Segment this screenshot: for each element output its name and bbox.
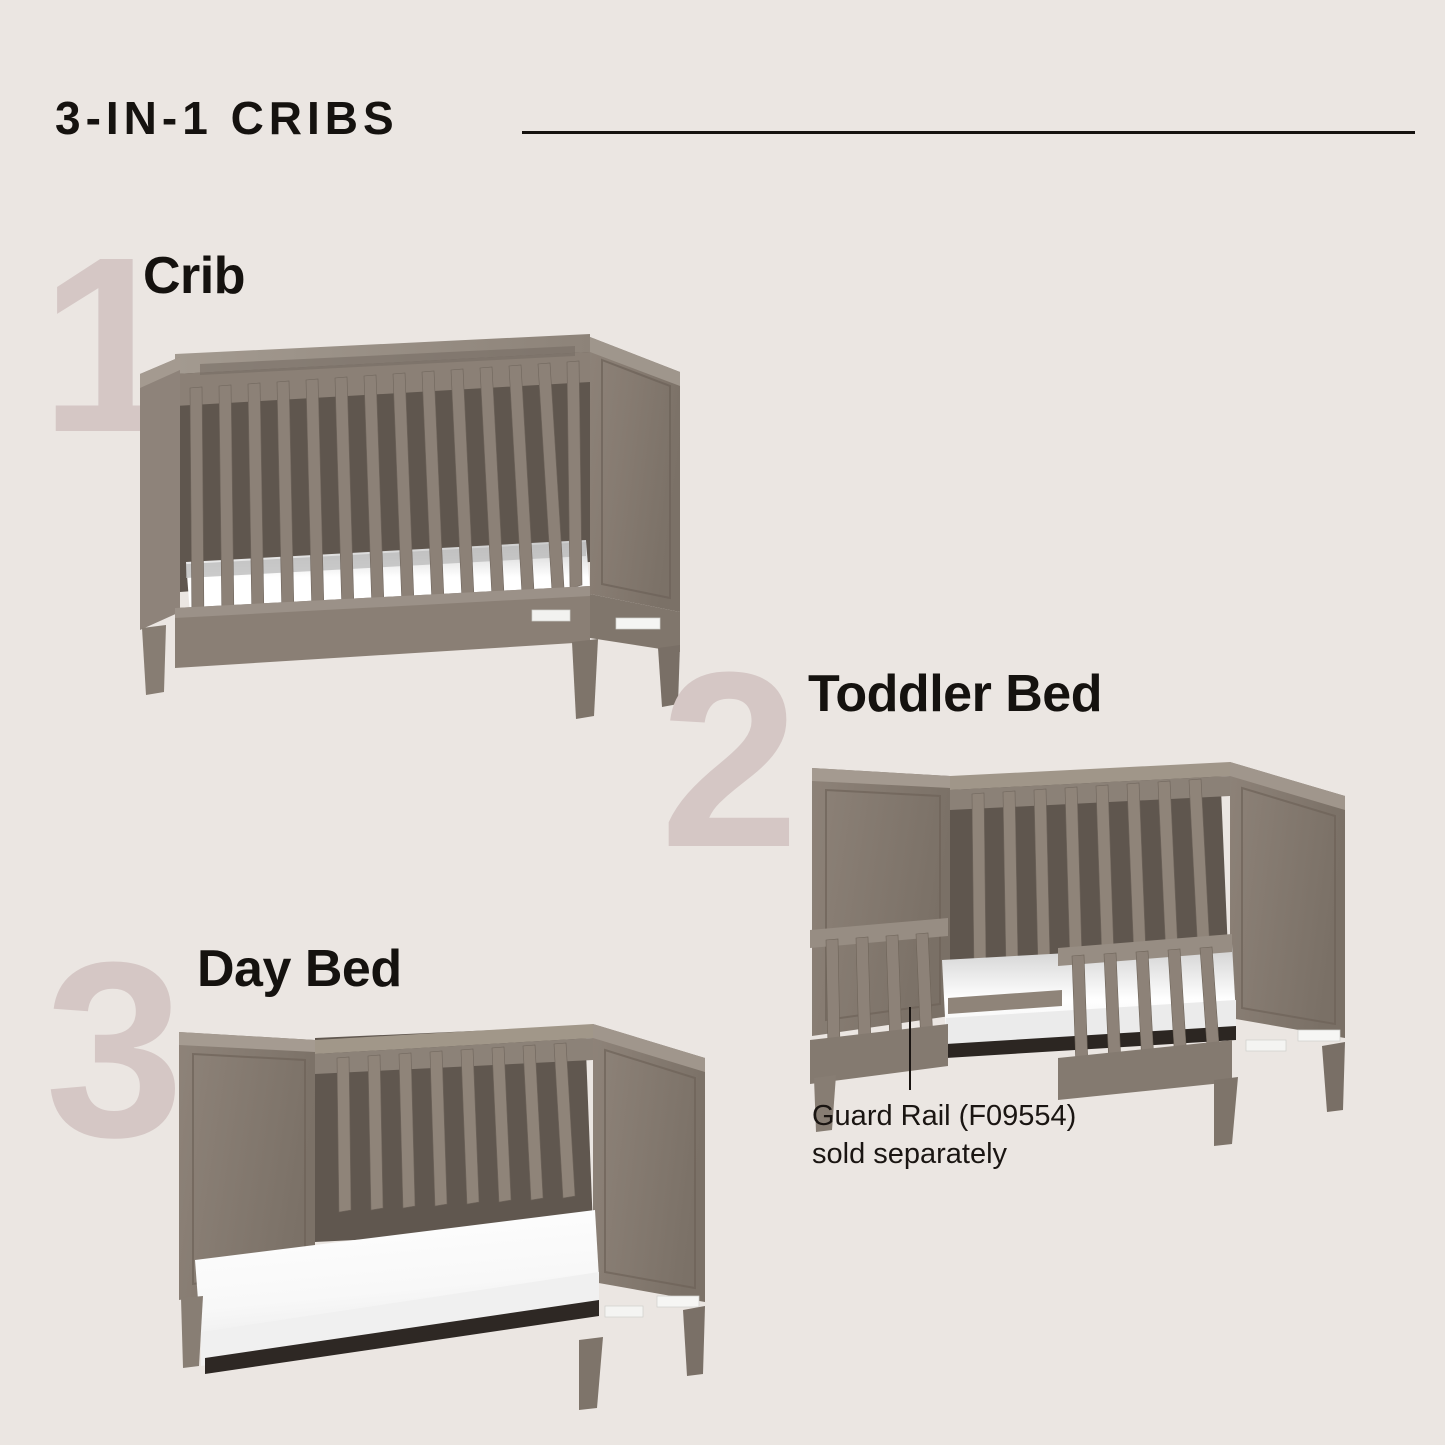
crib-illustration [120, 312, 706, 724]
crib-svg [120, 312, 706, 724]
step-label-crib: Crib [143, 250, 245, 302]
page-title: 3-IN-1 CRIBS [55, 95, 399, 141]
day-bed-leg-front-left [181, 1296, 203, 1368]
guard-rail-annotation-line1: Guard Rail (F09554) [812, 1097, 1076, 1135]
guard-rail-annotation-line2: sold separately [812, 1135, 1076, 1173]
crib-leg-front-right [572, 639, 598, 719]
crib-left-end-panel [140, 357, 180, 630]
crib-product-sticker-front [532, 610, 570, 621]
toddler-leg-back-right [1322, 1042, 1345, 1112]
step-label-toddler-bed: Toddler Bed [808, 668, 1102, 720]
toddler-bed-illustration [800, 748, 1382, 1146]
day-bed-illustration [165, 1010, 725, 1418]
step-label-day-bed: Day Bed [197, 943, 402, 995]
day-bed-product-sticker-b [657, 1296, 699, 1307]
guard-rail-annotation: Guard Rail (F09554) sold separately [812, 1097, 1076, 1174]
day-bed-product-sticker-a [605, 1306, 643, 1317]
step-numeral-3: 3 [45, 945, 184, 1155]
header-divider-rule [522, 131, 1415, 134]
crib-leg-front-left [142, 625, 166, 695]
day-bed-leg-front-right [579, 1337, 603, 1410]
day-bed-leg-back-right [683, 1306, 705, 1376]
toddler-product-sticker-b [1298, 1030, 1340, 1041]
day-bed-svg [165, 1010, 725, 1418]
step-numeral-2: 2 [660, 655, 799, 865]
toddler-product-sticker-a [1246, 1040, 1286, 1051]
toddler-leg-front-right [1214, 1077, 1238, 1146]
guard-rail-leader-line [909, 1007, 911, 1090]
toddler-bed-svg [800, 748, 1382, 1146]
guard-rail-right [1058, 934, 1232, 1100]
crib-product-sticker-side [616, 618, 660, 629]
